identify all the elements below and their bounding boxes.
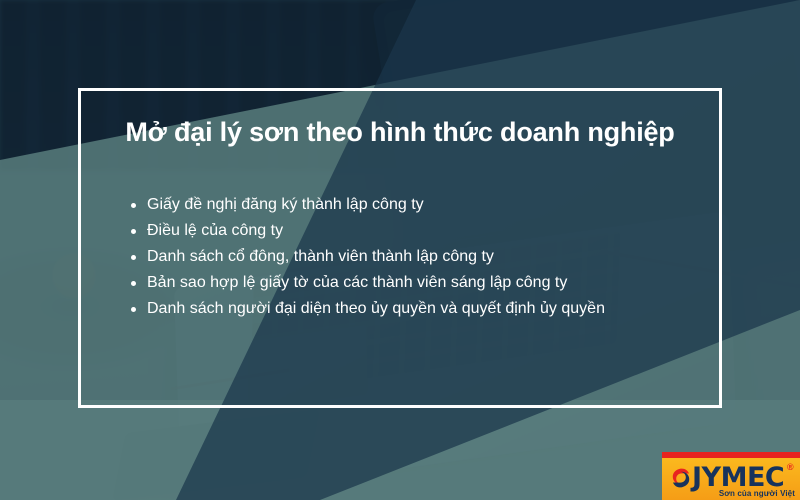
page-title: Mở đại lý sơn theo hình thức doanh nghiệ… — [104, 116, 696, 150]
list-item: Bản sao hợp lệ giấy tờ của các thành viê… — [130, 270, 696, 296]
promo-banner: Mở đại lý sơn theo hình thức doanh nghiệ… — [0, 0, 800, 500]
list-item: Danh sách cổ đông, thành viên thành lập … — [130, 244, 696, 270]
list-item: Giấy đề nghị đăng ký thành lập công ty — [130, 192, 696, 218]
jymec-logo: JYMEC ® Sơn của người Việt — [662, 452, 800, 500]
list-item: Danh sách người đại diện theo ủy quyền v… — [130, 296, 696, 322]
requirements-list: Giấy đề nghị đăng ký thành lập công ty Đ… — [130, 192, 696, 322]
jymec-swirl-s-icon — [668, 465, 694, 491]
logo-tagline: Sơn của người Việt — [719, 489, 795, 498]
list-item: Điều lệ của công ty — [130, 218, 696, 244]
registered-trademark-icon: ® — [787, 462, 794, 472]
content-area: Mở đại lý sơn theo hình thức doanh nghiệ… — [78, 88, 722, 408]
